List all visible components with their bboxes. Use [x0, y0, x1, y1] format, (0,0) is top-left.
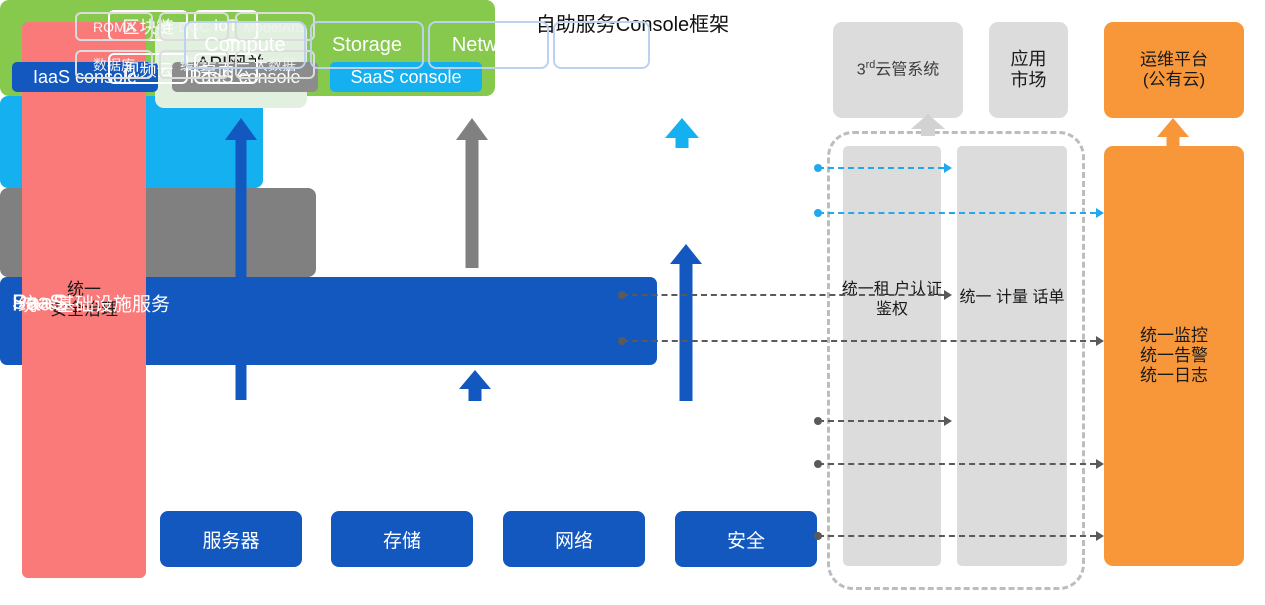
infra-item-label: Storage [332, 34, 402, 57]
arrow-infra-to-api-gateway [225, 118, 257, 400]
connector-arrowhead [944, 163, 952, 173]
bottom-tile-label: 安全 [727, 526, 765, 553]
connector-paas-to-monitoring [622, 340, 1096, 342]
paas-item-roma[interactable]: ROMA [75, 12, 153, 41]
connector-paas-to-auth [622, 294, 944, 296]
bottom-tile-security[interactable]: 安全 [675, 511, 817, 567]
unified-monitoring-panel: 统一监控 统一告警 统一日志 [1104, 146, 1244, 566]
infra-item-label: CCE [580, 34, 622, 57]
connector-arrowhead [1096, 531, 1104, 541]
bottom-tile-label: 服务器 [202, 526, 259, 553]
unified-metering-label: 统一 计量 话单 [957, 288, 1067, 308]
bottom-tile-storage[interactable]: 存储 [331, 511, 473, 567]
arrow-paas-to-console [456, 118, 488, 268]
arrow-infra-to-saas [670, 244, 702, 401]
connector-arrowhead [944, 290, 952, 300]
infra-item-storage[interactable]: Storage [310, 21, 424, 69]
connector-bottom-to-monitoring [818, 535, 1096, 537]
third-party-superscript: rd [866, 59, 876, 71]
bottom-tile-server[interactable]: 服务器 [160, 511, 302, 567]
bottom-tile-label: 存储 [383, 526, 421, 553]
arrow-monitoring-to-ops-platform [1156, 118, 1190, 148]
third-party-cloud-mgmt-box: 3rd云管系统 [833, 22, 963, 118]
arrow-infra-to-paas [459, 370, 491, 401]
paas-item-database[interactable]: 数据库 [75, 50, 153, 79]
connector-arrowhead [1096, 208, 1104, 218]
connector-saas-to-monitoring [818, 212, 1096, 214]
infra-item-network[interactable]: Network [428, 21, 549, 69]
paas-item-label: 数据库 [93, 55, 135, 75]
unified-metering-column [957, 146, 1067, 566]
connector-saas-to-auth [818, 167, 944, 169]
infra-item-label: Network [452, 34, 525, 57]
ops-platform-label: 运维平台 (公有云) [1140, 50, 1208, 90]
connector-arrowhead [1096, 459, 1104, 469]
saas-console-label: SaaS console [350, 67, 461, 88]
architecture-diagram: 统一 安全治理 API网关 自助服务Console框架 IaaS console… [0, 0, 1265, 605]
unified-tenant-auth-label: 统一租 户认证 鉴权 [837, 280, 947, 320]
third-party-cloud-mgmt-label: 3rd云管系统 [857, 59, 940, 80]
app-market-box: 应用 市场 [989, 22, 1068, 118]
unified-tenant-auth-column [843, 146, 941, 566]
infra-item-compute[interactable]: Compute [184, 21, 306, 69]
arrow-saas-to-console [665, 118, 699, 148]
connector-arrowhead [944, 416, 952, 426]
connector-infra-to-monitoring [818, 463, 1096, 465]
bottom-tile-network[interactable]: 网络 [503, 511, 645, 567]
connector-arrowhead [1096, 336, 1104, 346]
arrow-shared-to-third-party [911, 114, 945, 136]
paas-item-label: ROMA [93, 19, 135, 35]
connector-infra-to-auth [818, 420, 944, 422]
infra-item-label: Compute [204, 34, 285, 57]
unified-monitoring-label: 统一监控 统一告警 统一日志 [1140, 326, 1208, 386]
app-market-label: 应用 市场 [1011, 49, 1047, 91]
bottom-tile-label: 网络 [555, 526, 593, 553]
infra-item-cce[interactable]: CCE [553, 21, 650, 69]
unified-infrastructure-label: 统一基础设施服务 [18, 289, 170, 316]
ops-platform-box: 运维平台 (公有云) [1104, 22, 1244, 118]
